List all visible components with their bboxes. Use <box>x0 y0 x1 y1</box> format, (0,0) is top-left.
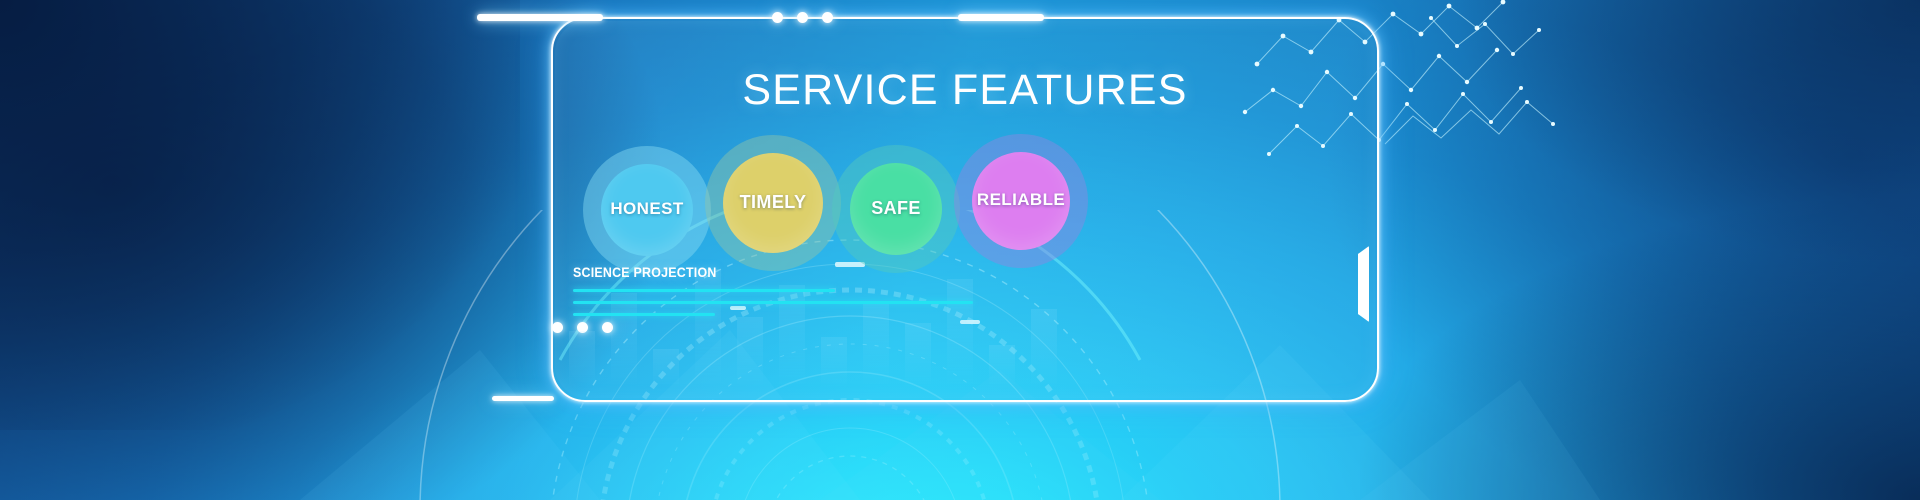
feature-circle[interactable]: RELIABLE <box>954 134 1088 268</box>
ghost-bar <box>905 323 931 389</box>
feature-circle-list: HONESTTIMELYSAFERELIABLE <box>551 145 1379 265</box>
feature-circle-label: HONEST <box>583 199 711 219</box>
science-projection-lines <box>573 289 993 316</box>
ghost-bar <box>569 331 595 389</box>
panel-content: SERVICE FEATURES HONESTTIMELYSAFERELIABL… <box>551 17 1379 402</box>
science-projection-line <box>573 313 715 316</box>
page-title: SERVICE FEATURES <box>551 69 1379 112</box>
feature-circle-label: RELIABLE <box>954 190 1088 210</box>
ghost-bar <box>821 337 847 389</box>
feature-circle-label: SAFE <box>832 198 960 219</box>
science-projection-title: SCIENCE PROJECTION <box>573 265 959 280</box>
science-projection-line <box>573 301 973 304</box>
feature-circle-label: TIMELY <box>705 192 841 213</box>
science-projection-block: SCIENCE PROJECTION <box>573 265 993 325</box>
banner-stage: SERVICE FEATURES HONESTTIMELYSAFERELIABL… <box>0 0 1920 500</box>
ghost-bar <box>737 317 763 389</box>
science-projection-line <box>573 289 835 292</box>
frame-accent-bottom-left <box>492 396 554 401</box>
ghost-bar <box>1031 309 1057 389</box>
ghost-bar <box>653 349 679 389</box>
ghost-bar <box>989 345 1015 389</box>
